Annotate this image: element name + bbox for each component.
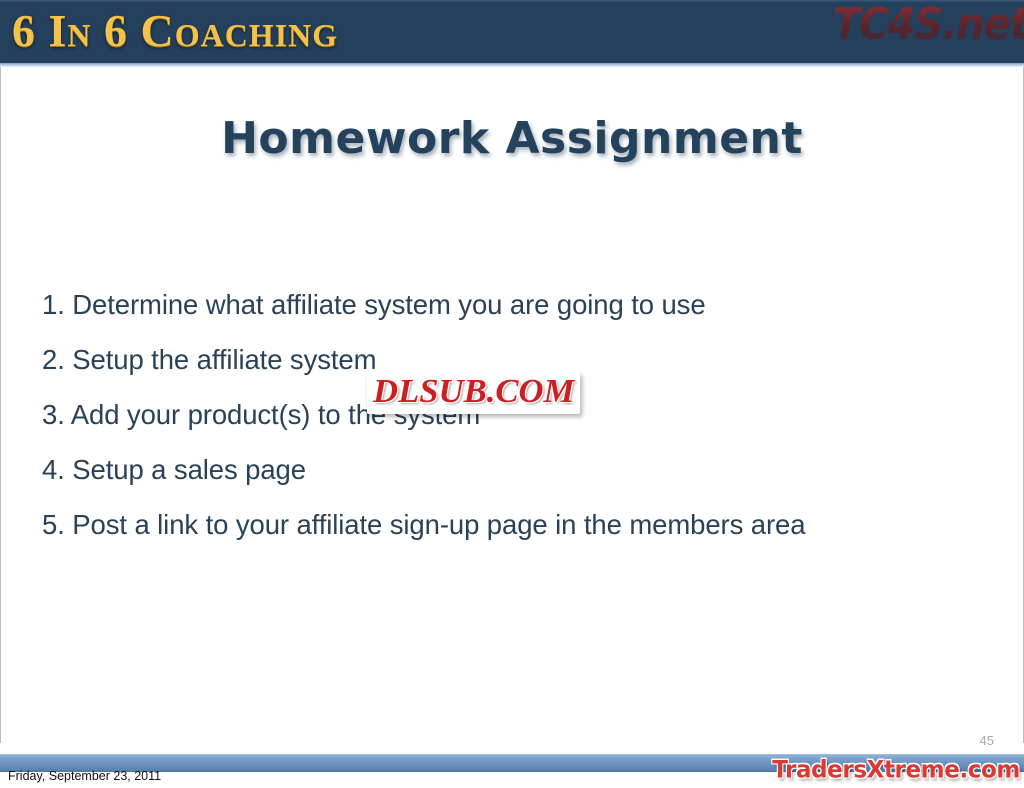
brand-site-logo: TC4S.net <box>833 0 1024 50</box>
presentation-slide: 6 In 6 Coaching TC4S.net Homework Assign… <box>0 0 1024 788</box>
slide-number: 45 <box>980 733 994 748</box>
header-banner: 6 In 6 Coaching TC4S.net <box>0 0 1024 63</box>
homework-task-list: 1. Determine what affiliate system you a… <box>42 277 982 552</box>
list-item: 1. Determine what affiliate system you a… <box>42 277 982 332</box>
tradersxtreme-watermark: TradersXtreme.com <box>772 756 1020 783</box>
page-title: Homework Assignment <box>0 113 1024 164</box>
list-item: 5. Post a link to your affiliate sign-up… <box>42 497 982 552</box>
footer-date: Friday, September 23, 2011 <box>8 769 161 783</box>
list-item: 4. Setup a sales page <box>42 442 982 497</box>
dlsub-watermark: DLSUB.COM <box>367 372 581 414</box>
brand-logo-text: 6 In 6 Coaching <box>12 6 338 56</box>
